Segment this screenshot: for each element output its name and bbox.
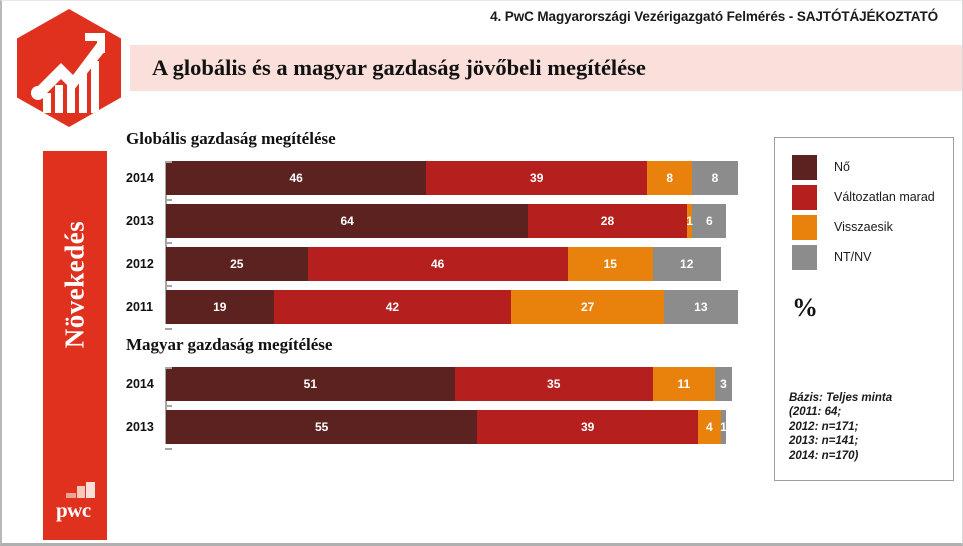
bar-segment[interactable]: 46 xyxy=(166,161,426,195)
legend-list: NőVáltozatlan maradVisszaesikNT/NV xyxy=(792,152,935,272)
bar-segment-value: 1 xyxy=(720,420,727,434)
bar-segment[interactable]: 39 xyxy=(477,410,698,444)
chart-axis-tick xyxy=(165,285,172,287)
bar-segment-value: 39 xyxy=(581,420,594,434)
bar-segment-value: 4 xyxy=(706,420,713,434)
chart-category-label: 2014 xyxy=(126,171,159,185)
slide: 4. PwC Magyarországi Vezérigazgató Felmé… xyxy=(0,0,963,546)
bar-segment-value: 11 xyxy=(678,377,691,391)
bar-segment-value: 42 xyxy=(386,300,399,314)
bar-segment[interactable]: 15 xyxy=(568,247,653,281)
legend-item-label: Nő xyxy=(834,160,850,174)
growth-hexagon-icon xyxy=(13,7,125,129)
chart-axis-tick xyxy=(165,161,172,163)
legend-base-note: Bázis: Teljes minta (2011: 64; 2012: n=1… xyxy=(789,391,892,464)
bar-segment-value: 51 xyxy=(304,377,317,391)
stacked-bar: 25461512 xyxy=(166,247,721,281)
bar-segment[interactable]: 12 xyxy=(653,247,721,281)
bar-segment[interactable]: 35 xyxy=(455,367,653,401)
stacked-bar: 553941 xyxy=(166,410,726,444)
sidebar-section-label: Növekedés xyxy=(60,221,91,349)
chart-axis-tick xyxy=(165,405,172,407)
legend-swatch xyxy=(792,155,817,180)
bar-segment-value: 6 xyxy=(706,214,713,228)
stacked-bar: 19422713 xyxy=(166,290,738,324)
legend-item[interactable]: Változatlan marad xyxy=(792,182,935,212)
title-band: A globális és a magyar gazdaság jövőbeli… xyxy=(130,45,963,91)
bar-segment[interactable]: 55 xyxy=(166,410,477,444)
stacked-bar: 642816 xyxy=(166,204,726,238)
chart-row: 2013642816 xyxy=(126,204,746,238)
bar-segment-value: 1 xyxy=(686,214,693,228)
legend-item[interactable]: Visszaesik xyxy=(792,212,935,242)
chart-title: Magyar gazdaság megítélése xyxy=(126,335,746,355)
legend-item-label: NT/NV xyxy=(834,250,872,264)
legend-item-label: Változatlan marad xyxy=(834,190,935,204)
chart-category-label: 2014 xyxy=(126,377,159,391)
bar-segment[interactable]: 8 xyxy=(647,161,692,195)
bar-segment-value: 25 xyxy=(230,257,243,271)
chart-axis-tick xyxy=(165,328,172,330)
chart-category-label: 2013 xyxy=(126,214,159,228)
bar-segment[interactable]: 1 xyxy=(721,410,727,444)
bar-segment-value: 46 xyxy=(290,171,303,185)
bar-segment-value: 46 xyxy=(431,257,444,271)
legend-item-label: Visszaesik xyxy=(834,220,893,234)
stacked-bar: 463988 xyxy=(166,161,738,195)
bar-segment[interactable]: 13 xyxy=(664,290,738,324)
bar-segment-value: 13 xyxy=(694,300,707,314)
chart-row: 201119422713 xyxy=(126,290,746,324)
chart-axis-tick xyxy=(165,242,172,244)
bar-segment[interactable]: 27 xyxy=(511,290,664,324)
bar-segment[interactable]: 39 xyxy=(426,161,647,195)
bar-segment[interactable]: 51 xyxy=(166,367,455,401)
page-title: A globális és a magyar gazdaság jövőbeli… xyxy=(152,55,646,81)
bar-segment[interactable]: 28 xyxy=(528,204,686,238)
bar-segment-value: 28 xyxy=(601,214,614,228)
chart-title: Globális gazdaság megítélése xyxy=(126,129,746,149)
bar-segment-value: 8 xyxy=(712,171,719,185)
legend-panel: NőVáltozatlan maradVisszaesikNT/NV % Báz… xyxy=(774,137,954,481)
legend-item[interactable]: NT/NV xyxy=(792,242,935,272)
bar-segment-value: 35 xyxy=(547,377,560,391)
legend-swatch xyxy=(792,215,817,240)
chart-hungarian-economy: Magyar gazdaság megítélése 2014513511320… xyxy=(126,335,746,444)
chart-plot-area: 201451351132013553941 xyxy=(126,367,746,444)
chart-plot-area: 2014463988201364281620122546151220111942… xyxy=(126,161,746,324)
slide-header-text: 4. PwC Magyarországi Vezérigazgató Felmé… xyxy=(490,9,938,24)
bar-segment-value: 3 xyxy=(720,377,727,391)
bar-segment[interactable]: 6 xyxy=(692,204,726,238)
chart-global-economy: Globális gazdaság megítélése 20144639882… xyxy=(126,129,746,324)
bar-segment-value: 19 xyxy=(213,300,226,314)
bar-segment[interactable]: 42 xyxy=(274,290,512,324)
legend-item[interactable]: Nő xyxy=(792,152,935,182)
bar-segment[interactable]: 46 xyxy=(308,247,568,281)
bar-segment-value: 27 xyxy=(581,300,594,314)
bar-segment-value: 64 xyxy=(340,214,353,228)
chart-row: 201225461512 xyxy=(126,247,746,281)
pwc-blocks-icon xyxy=(66,482,96,498)
chart-category-label: 2011 xyxy=(126,300,159,314)
bar-segment-value: 8 xyxy=(666,171,673,185)
bar-segment[interactable]: 8 xyxy=(692,161,737,195)
chart-category-label: 2012 xyxy=(126,257,159,271)
chart-row: 2013553941 xyxy=(126,410,746,444)
bar-segment[interactable]: 25 xyxy=(166,247,308,281)
bar-segment[interactable]: 11 xyxy=(653,367,715,401)
legend-swatch xyxy=(792,245,817,270)
bar-segment[interactable]: 64 xyxy=(166,204,528,238)
chart-row: 20145135113 xyxy=(126,367,746,401)
bar-segment[interactable]: 3 xyxy=(715,367,732,401)
bar-segment-value: 39 xyxy=(530,171,543,185)
chart-axis-tick xyxy=(165,199,172,201)
section-sidebar: Növekedés pwc xyxy=(43,151,107,540)
chart-row: 2014463988 xyxy=(126,161,746,195)
stacked-bar: 5135113 xyxy=(166,367,732,401)
chart-category-label: 2013 xyxy=(126,420,159,434)
chart-axis-tick xyxy=(165,367,172,369)
legend-swatch xyxy=(792,185,817,210)
bar-segment-value: 12 xyxy=(680,257,693,271)
chart-axis-tick xyxy=(165,448,172,450)
bar-segment-value: 55 xyxy=(315,420,328,434)
bar-segment[interactable]: 4 xyxy=(698,410,721,444)
pwc-logo-text: pwc xyxy=(56,498,91,523)
legend-unit-label: % xyxy=(792,293,818,323)
bar-segment[interactable]: 19 xyxy=(166,290,274,324)
bar-segment-value: 15 xyxy=(604,257,617,271)
